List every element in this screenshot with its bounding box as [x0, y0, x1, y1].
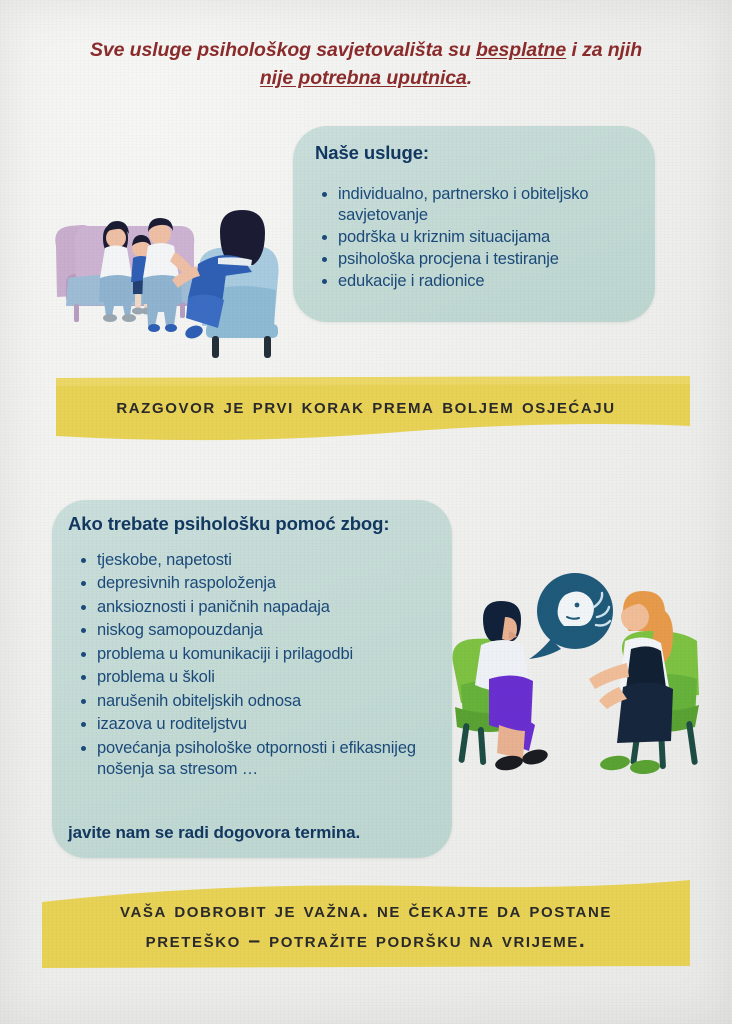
banner-bottom-text: Vaša dobrobit je važna. Ne čekajte da po…	[0, 896, 732, 957]
list-item: izazova u roditeljstvu	[76, 714, 436, 735]
list-item: narušenih obiteljskih odnosa	[76, 691, 436, 712]
list-item: depresivnih raspoloženja	[76, 573, 436, 594]
list-item: problema u školi	[76, 667, 436, 688]
list-item: niskog samopouzdanja	[76, 620, 436, 641]
banner-bottom-line-1: Vaša dobrobit je važna. Ne čekajte da po…	[120, 899, 612, 922]
banner-top: Razgovor je prvi korak prema boljem osje…	[0, 376, 732, 454]
page-title: Sve usluge psihološkog savjetovališta su…	[60, 36, 672, 93]
two-people-talking-illustration	[447, 567, 705, 795]
banner-bottom-line-2: preteško – potražite podršku na vrijeme.	[146, 929, 587, 952]
reasons-box-footer: javite nam se radi dogovora termina.	[68, 823, 360, 843]
family-counselling-illustration	[48, 186, 300, 364]
list-item: individualno, partnersko i obiteljsko sa…	[317, 184, 637, 226]
list-item: psihološka procjena i testiranje	[317, 249, 637, 270]
list-item: edukacije i radionice	[317, 271, 637, 292]
list-item: problema u komunikaciji i prilagodbi	[76, 644, 436, 665]
banner-top-text: Razgovor je prvi korak prema boljem osje…	[0, 393, 732, 419]
list-item: povećanja psihološke otpornosti i efikas…	[76, 738, 436, 780]
list-item: tjeskobe, napetosti	[76, 550, 436, 571]
reasons-box: Ako trebate psihološku pomoć zbog: tjesk…	[52, 500, 452, 858]
list-item: anksioznosti i paničnih napadaja	[76, 597, 436, 618]
headline-emphasis-uputnica: nije potrebna uputnica	[260, 67, 467, 89]
poster-page: Sve usluge psihološkog savjetovališta su…	[0, 0, 732, 1024]
banner-bottom: Vaša dobrobit je važna. Ne čekajte da po…	[0, 880, 732, 970]
services-list: individualno, partnersko i obiteljsko sa…	[317, 184, 637, 293]
services-box: Naše usluge: individualno, partnersko i …	[293, 126, 655, 322]
reasons-list: tjeskobe, napetosti depresivnih raspolož…	[76, 550, 436, 782]
list-item: podrška u kriznim situacijama	[317, 227, 637, 248]
headline-emphasis-besplatne: besplatne	[476, 39, 566, 61]
services-box-title: Naše usluge:	[315, 142, 429, 164]
headline-line-1: Sve usluge psihološkog savjetovališta su…	[90, 39, 642, 61]
reasons-box-title: Ako trebate psihološku pomoć zbog:	[68, 513, 389, 535]
